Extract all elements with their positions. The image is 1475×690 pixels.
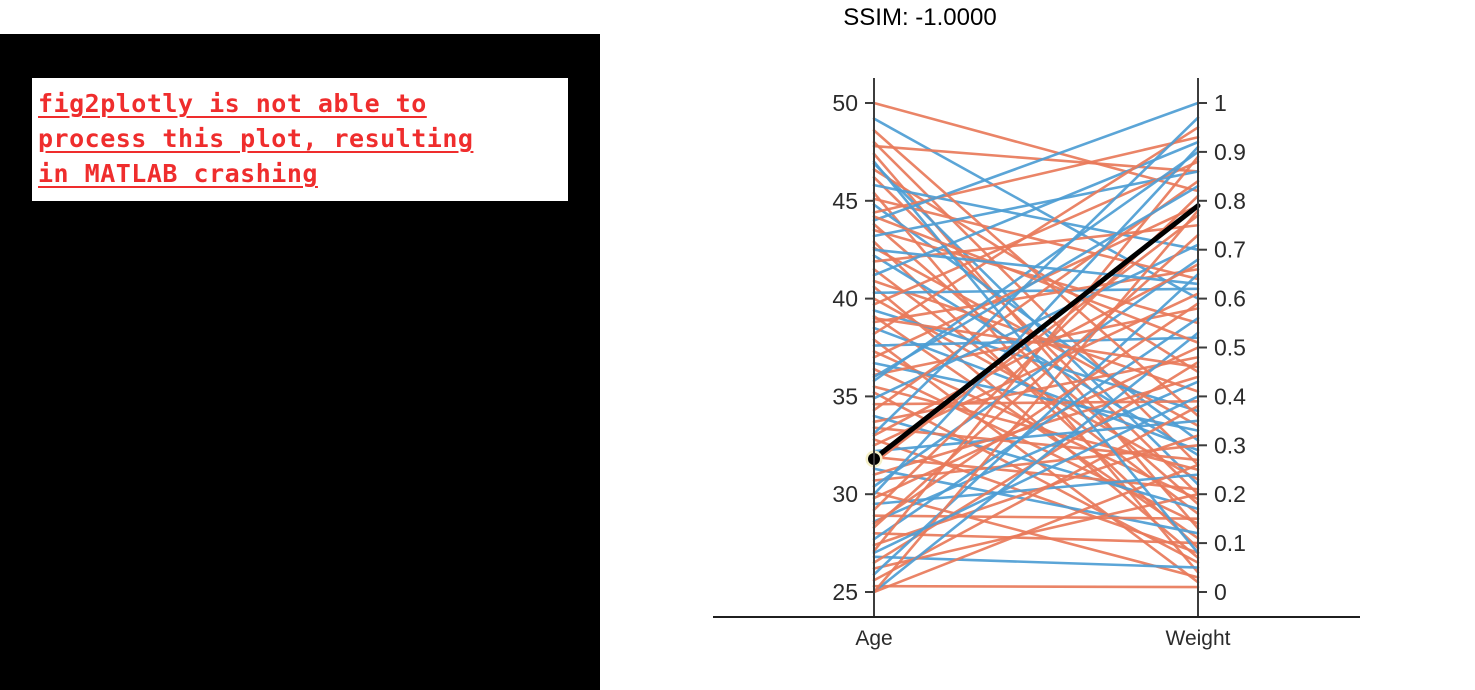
data-line-true [874, 186, 1198, 377]
tick-label-right: 0.9 [1214, 139, 1246, 165]
tick-label-right: 0.7 [1214, 237, 1246, 263]
tick-label-right: 0.4 [1214, 383, 1246, 409]
tick-label-right: 0.8 [1214, 188, 1246, 214]
tick-label-left: 35 [832, 383, 858, 409]
tick-label-right: 0 [1214, 579, 1227, 605]
category-label-weight: Weight [1166, 627, 1231, 650]
error-line-1: fig2plotly is not able to [38, 86, 562, 121]
error-line-2: process this plot, resulting [38, 121, 562, 156]
parallel-coordinates-figure: SSIM: -1.0000 50454035302510.90.80.70.60… [600, 0, 1475, 690]
data-lines-layer [866, 103, 1198, 592]
tick-label-right: 0.2 [1214, 481, 1246, 507]
tick-label-left: 40 [832, 286, 858, 312]
tick-label-right: 0.1 [1214, 530, 1246, 556]
plot-canvas: 50454035302510.90.80.70.60.50.40.30.20.1… [600, 0, 1475, 690]
tick-label-right: 0.5 [1214, 335, 1246, 361]
tick-label-right: 0.6 [1214, 286, 1246, 312]
error-message-box: fig2plotly is not able to process this p… [32, 78, 568, 201]
tick-label-left: 30 [832, 481, 858, 507]
error-line-3: in MATLAB crashing [38, 156, 562, 191]
category-label-age: Age [855, 627, 892, 650]
tick-label-right: 1 [1214, 90, 1227, 116]
tick-label-left: 25 [832, 579, 858, 605]
data-line-false [874, 586, 1198, 587]
tick-label-left: 45 [832, 188, 858, 214]
fig2plotly-error-panel: fig2plotly is not able to process this p… [0, 34, 600, 690]
tick-label-right: 0.3 [1214, 432, 1246, 458]
tick-label-left: 50 [832, 90, 858, 116]
data-line-false [874, 162, 1198, 305]
